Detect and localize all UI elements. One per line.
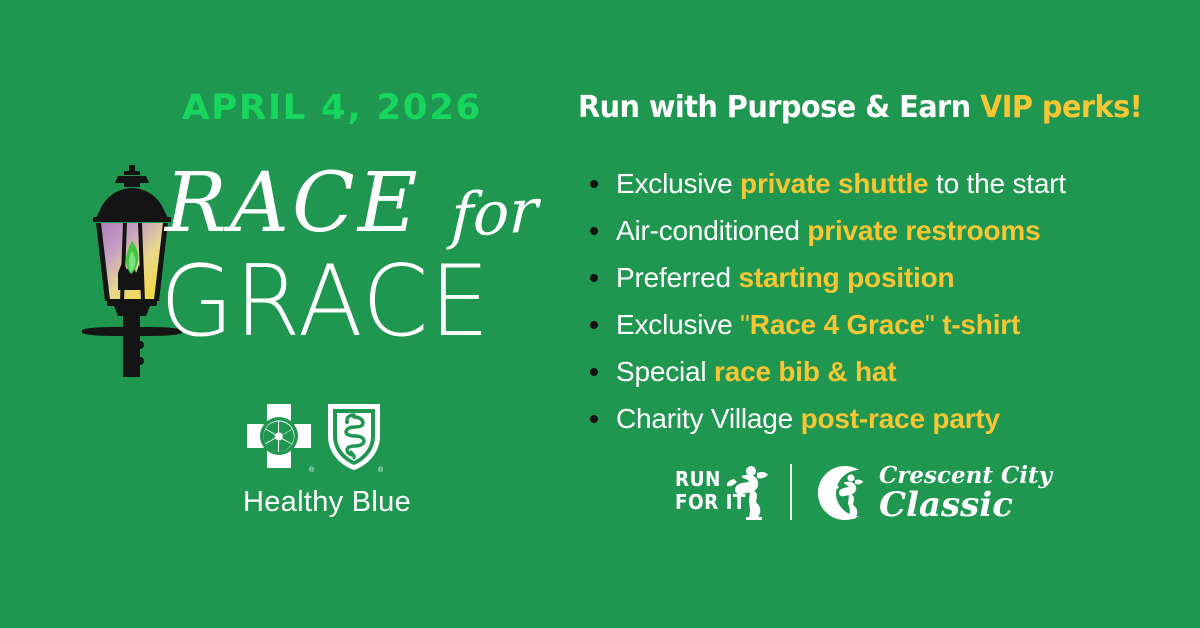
- wordmark-line-race: RACE: [165, 163, 421, 245]
- headline: Run with Purpose & Earn VIP perks!: [578, 90, 1142, 125]
- shield-registered-mark: ®: [378, 466, 384, 474]
- cross-registered-mark: ®: [309, 466, 315, 474]
- bullet-icon: [590, 368, 598, 376]
- list-item: Special race bib & hat: [582, 348, 1182, 395]
- wordmark-script-for: for: [450, 181, 539, 247]
- bullet-icon: [590, 321, 598, 329]
- running-figure-icon: [724, 464, 770, 520]
- list-item: Exclusive private shuttle to the start: [582, 160, 1182, 207]
- bullet-icon: [590, 180, 598, 188]
- bullet-icon: [590, 274, 598, 282]
- perk-pre: Special: [616, 356, 714, 387]
- ccc-line2: Classic: [879, 487, 1052, 523]
- list-item: Preferred starting position: [582, 254, 1182, 301]
- healthy-blue-marks: ® ®: [243, 402, 389, 478]
- run-for-it-logo: RUN FOR IT: [675, 464, 767, 520]
- perk-post: to the start: [928, 168, 1065, 199]
- perk-pre: Exclusive: [616, 168, 740, 199]
- left-column: APRIL 4, 2026: [0, 0, 570, 628]
- event-date: APRIL 4, 2026: [182, 88, 482, 128]
- blue-cross-icon: [247, 404, 311, 468]
- headline-plain: Run with Purpose & Earn: [578, 90, 980, 125]
- perk-bold: private shuttle: [740, 168, 928, 199]
- perk-quote-close: ": [925, 309, 935, 340]
- list-item: Exclusive "Race 4 Grace" t-shirt: [582, 301, 1182, 348]
- wordmark-line-grace: GRACE: [160, 253, 491, 351]
- crescent-city-classic-text: Crescent City Classic: [879, 463, 1052, 523]
- crescent-runner-icon: [815, 464, 873, 522]
- list-item: Charity Village post-race party: [582, 395, 1182, 442]
- perks-list: Exclusive private shuttle to the start A…: [582, 160, 1182, 442]
- blue-shield-icon: [328, 404, 380, 470]
- right-column: Run with Purpose & Earn VIP perks! Exclu…: [570, 0, 1200, 628]
- partner-logos: RUN FOR IT: [675, 462, 1085, 524]
- perk-bold: post-race party: [801, 403, 1000, 434]
- logo-divider: [790, 464, 792, 520]
- perk-pre: Exclusive: [616, 309, 740, 340]
- perk-pre: Charity Village: [616, 403, 801, 434]
- bullet-icon: [590, 415, 598, 423]
- healthy-blue-name: Healthy Blue: [243, 486, 389, 519]
- perk-pre: Air-conditioned: [616, 215, 807, 246]
- headline-highlight: VIP perks!: [980, 90, 1142, 125]
- perk-bold: Race 4 Grace: [750, 309, 925, 340]
- crescent-city-classic-logo: Crescent City Classic: [815, 462, 1095, 524]
- perk-bold: private restrooms: [807, 215, 1040, 246]
- perk-pre: Preferred: [616, 262, 739, 293]
- list-item: Air-conditioned private restrooms: [582, 207, 1182, 254]
- healthy-blue-logo: ® ® Healthy Blue: [243, 402, 389, 522]
- bullet-icon: [590, 227, 598, 235]
- perk-bold: starting position: [739, 262, 955, 293]
- poster-canvas: APRIL 4, 2026: [0, 0, 1200, 628]
- perk-bold-2: t-shirt: [935, 309, 1021, 340]
- perk-quote-open: ": [740, 309, 750, 340]
- race-for-grace-wordmark: RACE for GRACE: [165, 165, 560, 360]
- perk-bold: race bib & hat: [714, 356, 896, 387]
